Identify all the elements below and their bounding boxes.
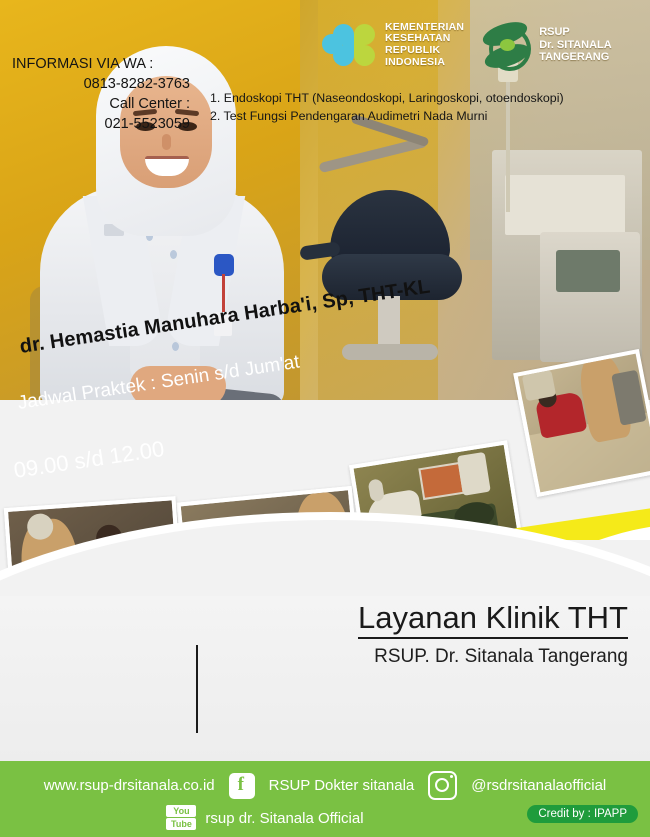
- footer-row-primary: www.rsup-drsitanala.co.id RSUP Dokter si…: [0, 771, 650, 800]
- instagram-icon[interactable]: [428, 771, 457, 800]
- hospital-logo-group: RSUP Dr. SITANALA TANGERANG: [480, 20, 612, 70]
- contact-block: INFORMASI VIA WA : 0813-8282-3763 Call C…: [8, 54, 190, 134]
- credit-badge: Credit by : IPAPP: [527, 805, 638, 823]
- contact-callcenter-number[interactable]: 021-5523059: [8, 114, 190, 134]
- title-block: Layanan Klinik THT RSUP. Dr. Sitanala Ta…: [358, 600, 628, 668]
- hospital-name: RSUP Dr. SITANALA TANGERANG: [539, 26, 612, 63]
- service-item: 2. Test Fungsi Pendengaran Audimetri Nad…: [210, 108, 564, 126]
- cabinet-drawer: [505, 175, 625, 235]
- services-list: 1. Endoskopi THT (Naseondoskopi, Laringo…: [210, 90, 564, 125]
- instagram-handle[interactable]: @rsdrsitanalaofficial: [471, 777, 606, 794]
- shirt-pattern-dot: [170, 250, 177, 259]
- ent-unit-panel: [556, 250, 620, 292]
- info-panel: Layanan Klinik THT RSUP. Dr. Sitanala Ta…: [0, 596, 650, 761]
- facebook-icon[interactable]: [229, 773, 255, 799]
- contact-wa-number[interactable]: 0813-8282-3763: [8, 74, 190, 94]
- contact-callcenter-label: Call Center :: [8, 94, 190, 114]
- youtube-icon[interactable]: You Tube: [166, 805, 196, 831]
- service-item: 1. Endoskopi THT (Naseondoskopi, Laringo…: [210, 90, 564, 108]
- footer-bar: www.rsup-drsitanala.co.id RSUP Dokter si…: [0, 761, 650, 837]
- clinic-title: Layanan Klinik THT: [358, 600, 628, 639]
- facebook-handle[interactable]: RSUP Dokter sitanala: [269, 777, 415, 794]
- hospital-line: TANGERANG: [539, 51, 612, 63]
- logo-bar: KEMENTERIAN KESEHATAN REPUBLIK INDONESIA…: [330, 8, 642, 82]
- poster-root: KEMENTERIAN KESEHATAN REPUBLIK INDONESIA…: [0, 0, 650, 837]
- ministry-name: KEMENTERIAN KESEHATAN REPUBLIK INDONESIA: [385, 22, 464, 68]
- clinic-subtitle: RSUP. Dr. Sitanala Tangerang: [358, 646, 628, 668]
- contact-wa-label: INFORMASI VIA WA :: [8, 54, 190, 74]
- hospital-line: Dr. SITANALA: [539, 39, 612, 51]
- vertical-divider: [196, 645, 198, 733]
- youtube-handle[interactable]: rsup dr. Sitanala Official: [205, 810, 363, 827]
- ministry-line: INDONESIA: [385, 57, 464, 69]
- ministry-logo-group: KEMENTERIAN KESEHATAN REPUBLIK INDONESIA: [330, 21, 464, 69]
- rsup-swirl-icon: [480, 20, 532, 70]
- youtube-icon-bottom: Tube: [166, 818, 196, 830]
- hospital-line: RSUP: [539, 26, 612, 38]
- nose: [162, 134, 171, 150]
- id-badge: [214, 254, 234, 276]
- website-link[interactable]: www.rsup-drsitanala.co.id: [44, 777, 215, 794]
- kemenkes-pinwheel-icon: [330, 21, 378, 69]
- youtube-icon-top: You: [166, 805, 196, 817]
- ministry-line: REPUBLIK: [385, 45, 464, 57]
